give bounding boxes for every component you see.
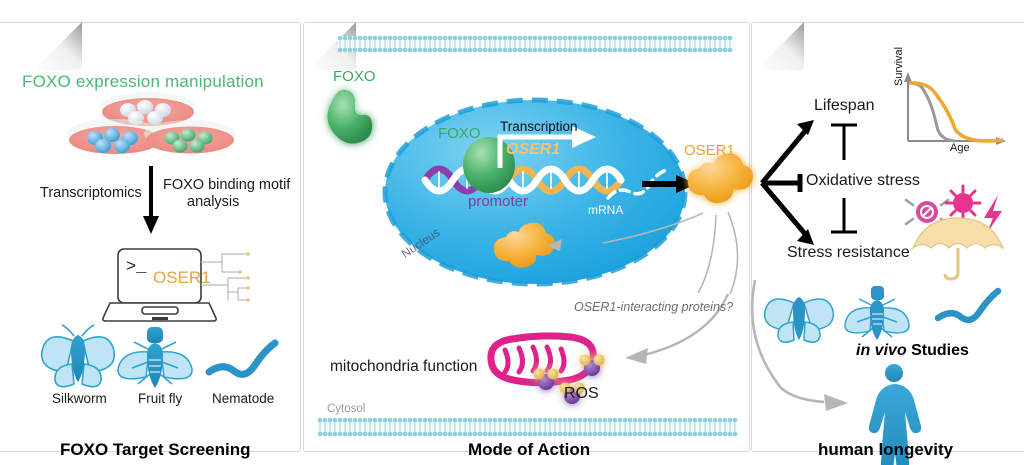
panel-outcomes	[751, 22, 1024, 452]
label-ros: ROS	[564, 385, 599, 403]
label-transcription: Transcription	[500, 119, 578, 134]
label-transcriptomics: Transcriptomics	[40, 185, 142, 201]
label-binding-motif-line2: analysis	[187, 194, 239, 210]
invivo-italic: in vivo	[856, 342, 907, 359]
outcome-label-stress-resistance: Stress resistance	[787, 244, 910, 262]
label-foxo-nucleus: FOXO	[438, 125, 481, 142]
chart-ylabel: Survival	[893, 47, 905, 86]
organism-label-nematode: Nematode	[212, 391, 274, 406]
label-mitochondria-function: mitochondria function	[330, 358, 477, 376]
label-cytosol: Cytosol	[327, 403, 365, 415]
panel1-heading: FOXO expression manipulation	[22, 72, 264, 92]
panel1-title: FOXO Target Screening	[60, 440, 251, 460]
invivo-rest: Studies	[907, 342, 969, 359]
organism-label-fruitfly: Fruit fly	[138, 391, 182, 406]
organism-label-silkworm: Silkworm	[52, 391, 107, 406]
panel3-title: human longevity	[818, 440, 953, 460]
outcome-label-oxidative-stress: Oxidative stress	[806, 172, 920, 190]
invivo-studies-label: in vivo Studies	[856, 342, 969, 360]
label-oser1-gene: OSER1	[506, 141, 560, 159]
label-mrna: mRNA	[588, 203, 623, 217]
label-binding-motif-line1: FOXO binding motif	[163, 177, 290, 193]
label-oser1-protein: OSER1	[684, 142, 735, 159]
label-foxo-cytosol: FOXO	[333, 68, 376, 85]
outcome-label-lifespan: Lifespan	[814, 97, 875, 115]
chart-xlabel: Age	[950, 142, 970, 154]
label-promoter: promoter	[468, 193, 528, 210]
panel2-title: Mode of Action	[468, 440, 590, 460]
panel-mode-of-action	[303, 22, 750, 452]
graphical-abstract: FOXO expression manipulation	[0, 0, 1024, 465]
label-interacting-proteins: OSER1-interacting proteins?	[574, 300, 733, 314]
laptop-gene-label: OSER1	[153, 268, 211, 288]
